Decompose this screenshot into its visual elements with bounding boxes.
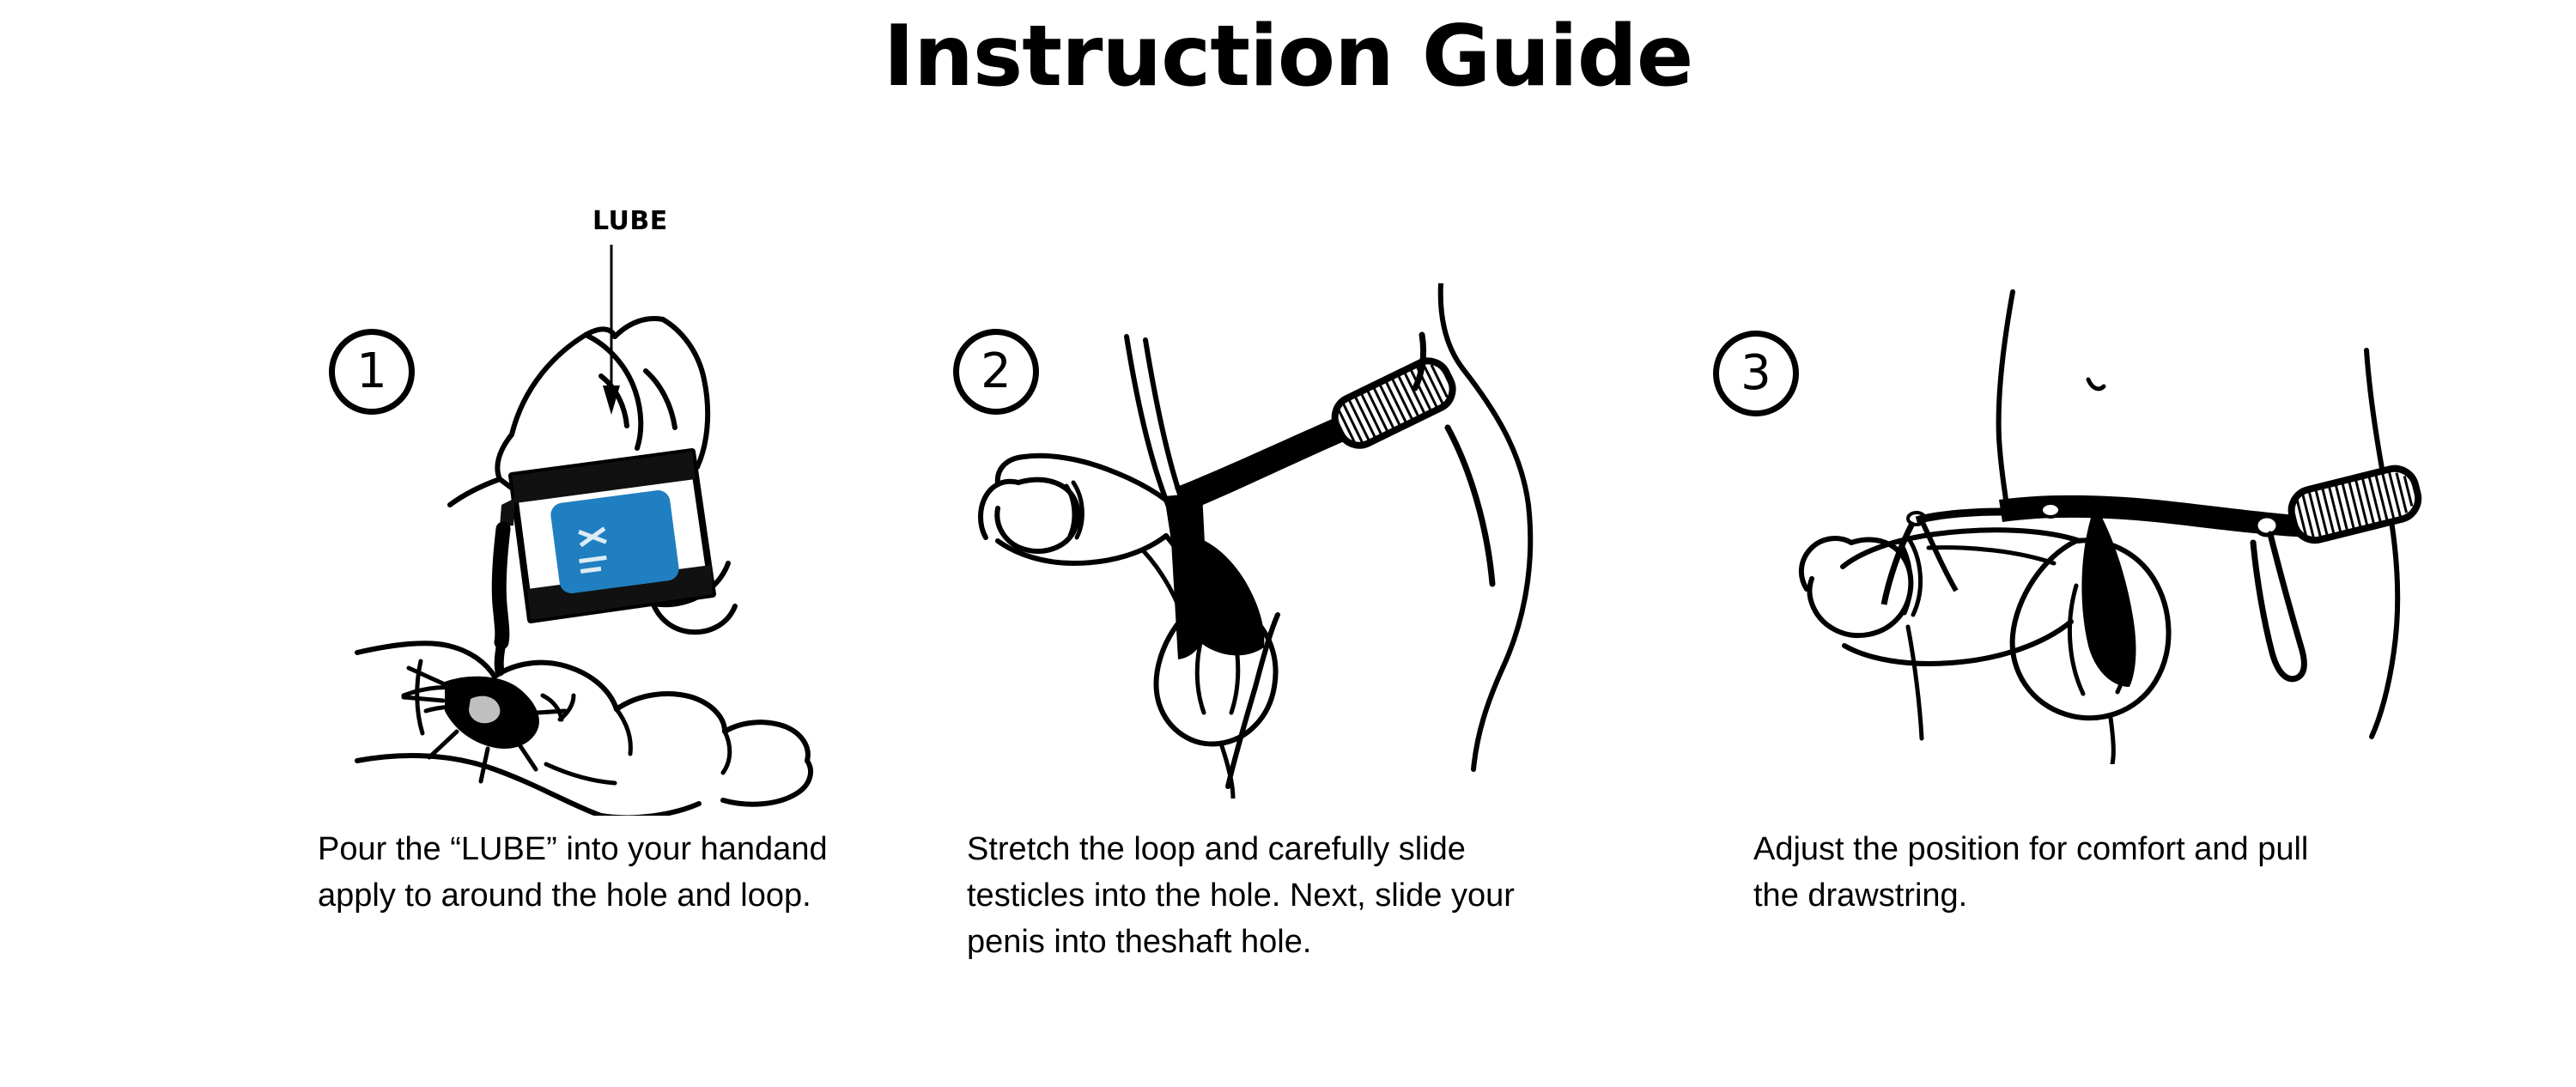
step-2: 2 (859, 0, 1649, 1087)
step-1: 1 LUBE (0, 0, 859, 1087)
bottle-label (550, 489, 681, 594)
illustration-step-2 (945, 283, 1631, 799)
lube-callout-label: LUBE (592, 206, 668, 236)
cord-lock-toggle (1328, 354, 1460, 452)
lube-stream (499, 529, 503, 642)
cord-lock-toggle (2287, 464, 2422, 544)
steps-container: 1 LUBE (0, 0, 2576, 1087)
step-caption-3: Adjust the position for comfort and pull… (1753, 826, 2337, 919)
illustration-step-1 (343, 283, 824, 816)
drawstring (2253, 534, 2304, 679)
step-3: 3 (1649, 0, 2576, 1087)
illustration-step-3 (1752, 283, 2524, 764)
step-caption-2: Stretch the loop and carefully slide tes… (967, 826, 1516, 965)
strap-grommet (2256, 516, 2278, 535)
strap-loop (1164, 417, 1348, 659)
strap-base-wedge (2081, 505, 2136, 687)
step-caption-1: Pour the “LUBE” into your handand apply … (318, 826, 833, 919)
lube-bottle (500, 452, 713, 620)
